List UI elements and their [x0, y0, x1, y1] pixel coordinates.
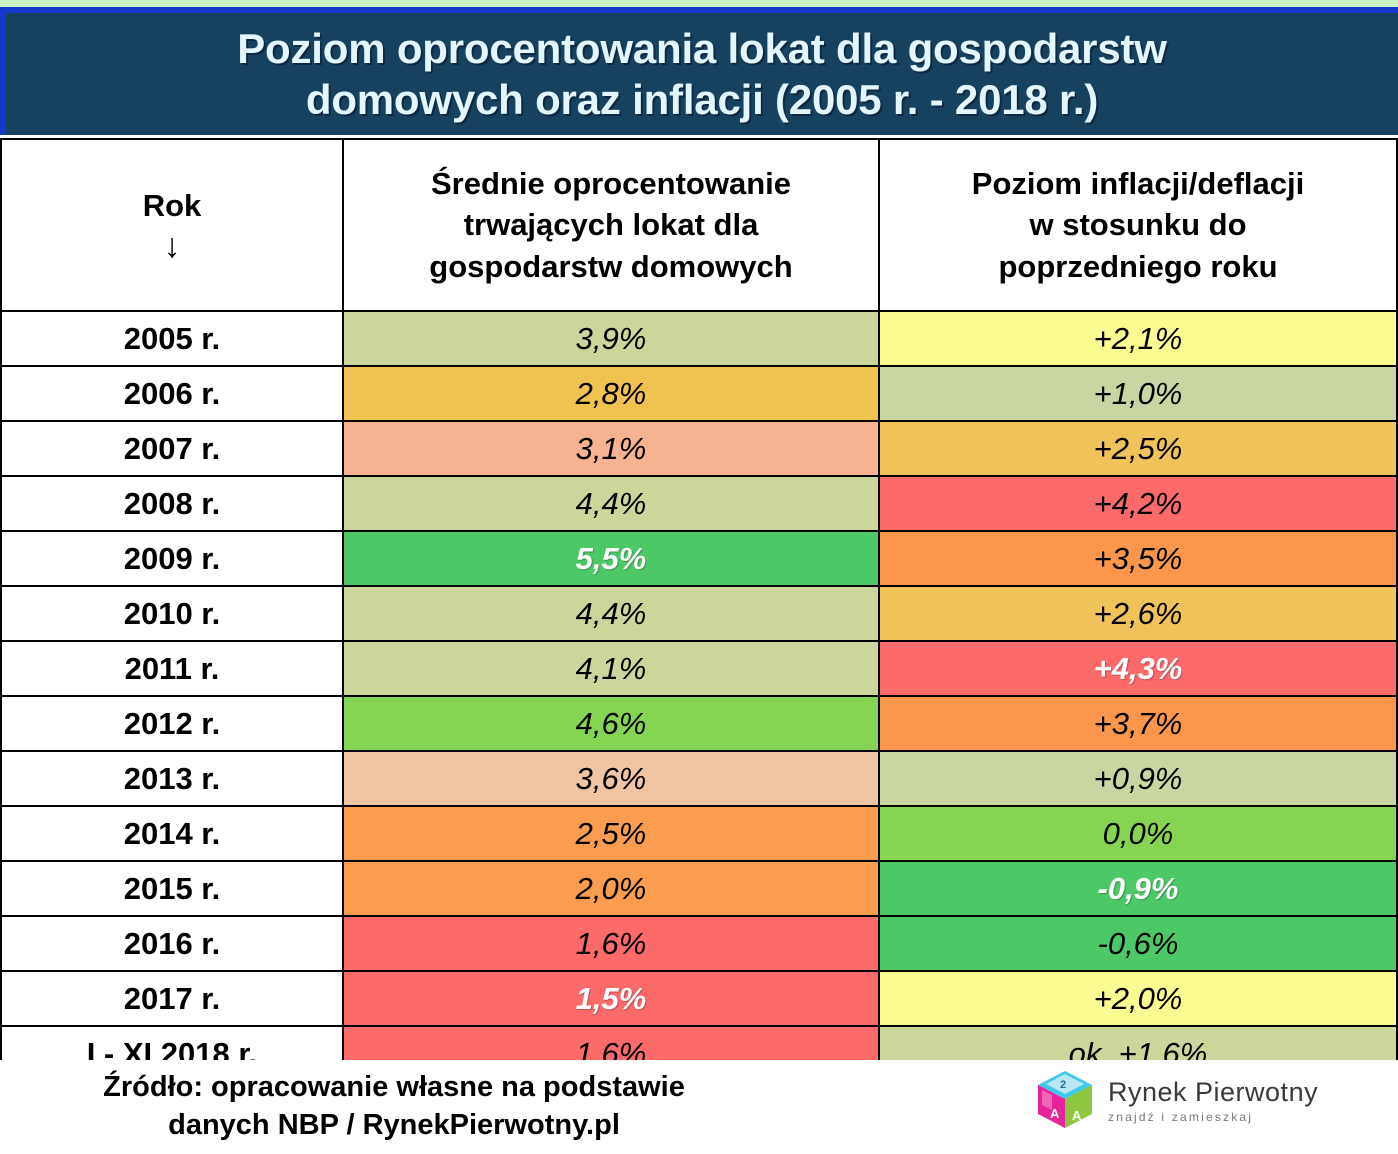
cell-year: 2010 r.: [1, 586, 343, 641]
cell-year: 2011 r.: [1, 641, 343, 696]
cell-year: 2008 r.: [1, 476, 343, 531]
table-body: 2005 r.3,9%+2,1%2006 r.2,8%+1,0%2007 r.3…: [1, 311, 1397, 1081]
column-header-deposits-line-3: gospodarstw domowych: [429, 249, 792, 284]
svg-text:A: A: [1050, 1106, 1060, 1121]
source-note-line-2: danych NBP / RynekPierwotny.pl: [34, 1107, 754, 1145]
cell-deposit-rate: 3,9%: [343, 311, 879, 366]
svg-text:2: 2: [1060, 1079, 1066, 1091]
logo-tagline: znajdź i zamieszkaj: [1108, 1110, 1318, 1124]
cell-year: 2017 r.: [1, 971, 343, 1026]
table-row: 2013 r.3,6%+0,9%: [1, 751, 1397, 806]
cell-inflation-rate: 0,0%: [879, 806, 1397, 861]
cell-year: 2007 r.: [1, 421, 343, 476]
cell-deposit-rate: 2,8%: [343, 366, 879, 421]
cell-deposit-rate: 1,5%: [343, 971, 879, 1026]
column-header-inflation-line-1: Poziom inflacji/deflacji: [972, 166, 1304, 201]
cell-deposit-rate: 2,0%: [343, 861, 879, 916]
cell-year: 2009 r.: [1, 531, 343, 586]
cell-deposit-rate: 4,1%: [343, 641, 879, 696]
cell-inflation-rate: -0,9%: [879, 861, 1397, 916]
cell-inflation-rate: +4,3%: [879, 641, 1397, 696]
table-row: 2007 r.3,1%+2,5%: [1, 421, 1397, 476]
page-title: Poziom oprocentowania lokat dla gospodar…: [217, 23, 1187, 125]
cell-year: 2014 r.: [1, 806, 343, 861]
infographic-table: Poziom oprocentowania lokat dla gospodar…: [0, 0, 1398, 1154]
cell-inflation-rate: +3,5%: [879, 531, 1397, 586]
table-row: 2014 r.2,5%0,0%: [1, 806, 1397, 861]
cell-deposit-rate: 4,6%: [343, 696, 879, 751]
column-header-deposits-line-1: Średnie oprocentowanie: [431, 166, 791, 201]
cell-inflation-rate: -0,6%: [879, 916, 1397, 971]
cell-deposit-rate: 4,4%: [343, 476, 879, 531]
title-line-2: domowych oraz inflacji (2005 r. - 2018 r…: [306, 76, 1098, 123]
cell-inflation-rate: +1,0%: [879, 366, 1397, 421]
table-row: 2008 r.4,4%+4,2%: [1, 476, 1397, 531]
cell-inflation-rate: +2,6%: [879, 586, 1397, 641]
cell-inflation-rate: +4,2%: [879, 476, 1397, 531]
cube-logo-icon: A A 2: [1032, 1068, 1098, 1134]
table-row: 2010 r.4,4%+2,6%: [1, 586, 1397, 641]
column-header-inflation-line-2: w stosunku do: [1030, 207, 1247, 242]
logo-wordmark: Rynek Pierwotny znajdź i zamieszkaj: [1108, 1078, 1318, 1123]
source-note-line-1: Źródło: opracowanie własne na podstawie: [34, 1069, 754, 1107]
logo-brand-name: Rynek Pierwotny: [1108, 1078, 1318, 1106]
cell-year: 2006 r.: [1, 366, 343, 421]
table-row: 2016 r.1,6%-0,6%: [1, 916, 1397, 971]
column-header-year: Rok ↓: [1, 139, 343, 311]
cell-year: 2013 r.: [1, 751, 343, 806]
cell-year: 2012 r.: [1, 696, 343, 751]
table-row: 2012 r.4,6%+3,7%: [1, 696, 1397, 751]
cell-deposit-rate: 3,1%: [343, 421, 879, 476]
cell-inflation-rate: +2,5%: [879, 421, 1397, 476]
arrow-down-icon: ↓: [2, 228, 342, 265]
cell-year: 2015 r.: [1, 861, 343, 916]
column-header-year-label: Rok: [2, 185, 342, 226]
cell-deposit-rate: 5,5%: [343, 531, 879, 586]
column-header-inflation: Poziom inflacji/deflacji w stosunku do p…: [879, 139, 1397, 311]
table-row: 2011 r.4,1%+4,3%: [1, 641, 1397, 696]
column-header-inflation-line-3: poprzedniego roku: [999, 249, 1278, 284]
title-band: Poziom oprocentowania lokat dla gospodar…: [0, 7, 1398, 135]
cell-deposit-rate: 2,5%: [343, 806, 879, 861]
title-line-1: Poziom oprocentowania lokat dla gospodar…: [237, 25, 1167, 72]
source-note: Źródło: opracowanie własne na podstawie …: [34, 1069, 754, 1144]
cell-inflation-rate: +2,1%: [879, 311, 1397, 366]
cell-year: 2016 r.: [1, 916, 343, 971]
table-row: 2017 r.1,5%+2,0%: [1, 971, 1397, 1026]
top-accent-strip: [0, 0, 1398, 7]
table-row: 2015 r.2,0%-0,9%: [1, 861, 1397, 916]
cell-year: 2005 r.: [1, 311, 343, 366]
brand-logo: A A 2 Rynek Pierwotny znajdź i zamieszka…: [1032, 1068, 1318, 1134]
svg-text:A: A: [1072, 1108, 1082, 1123]
cell-inflation-rate: +3,7%: [879, 696, 1397, 751]
table-header-row: Rok ↓ Średnie oprocentowanie trwających …: [1, 139, 1397, 311]
cell-deposit-rate: 4,4%: [343, 586, 879, 641]
cell-inflation-rate: +2,0%: [879, 971, 1397, 1026]
column-header-deposits: Średnie oprocentowanie trwających lokat …: [343, 139, 879, 311]
table-row: 2009 r.5,5%+3,5%: [1, 531, 1397, 586]
column-header-deposits-line-2: trwających lokat dla: [464, 207, 759, 242]
cell-deposit-rate: 1,6%: [343, 916, 879, 971]
cell-inflation-rate: +0,9%: [879, 751, 1397, 806]
table-row: 2006 r.2,8%+1,0%: [1, 366, 1397, 421]
data-table: Rok ↓ Średnie oprocentowanie trwających …: [0, 138, 1398, 1082]
cell-deposit-rate: 3,6%: [343, 751, 879, 806]
table-row: 2005 r.3,9%+2,1%: [1, 311, 1397, 366]
